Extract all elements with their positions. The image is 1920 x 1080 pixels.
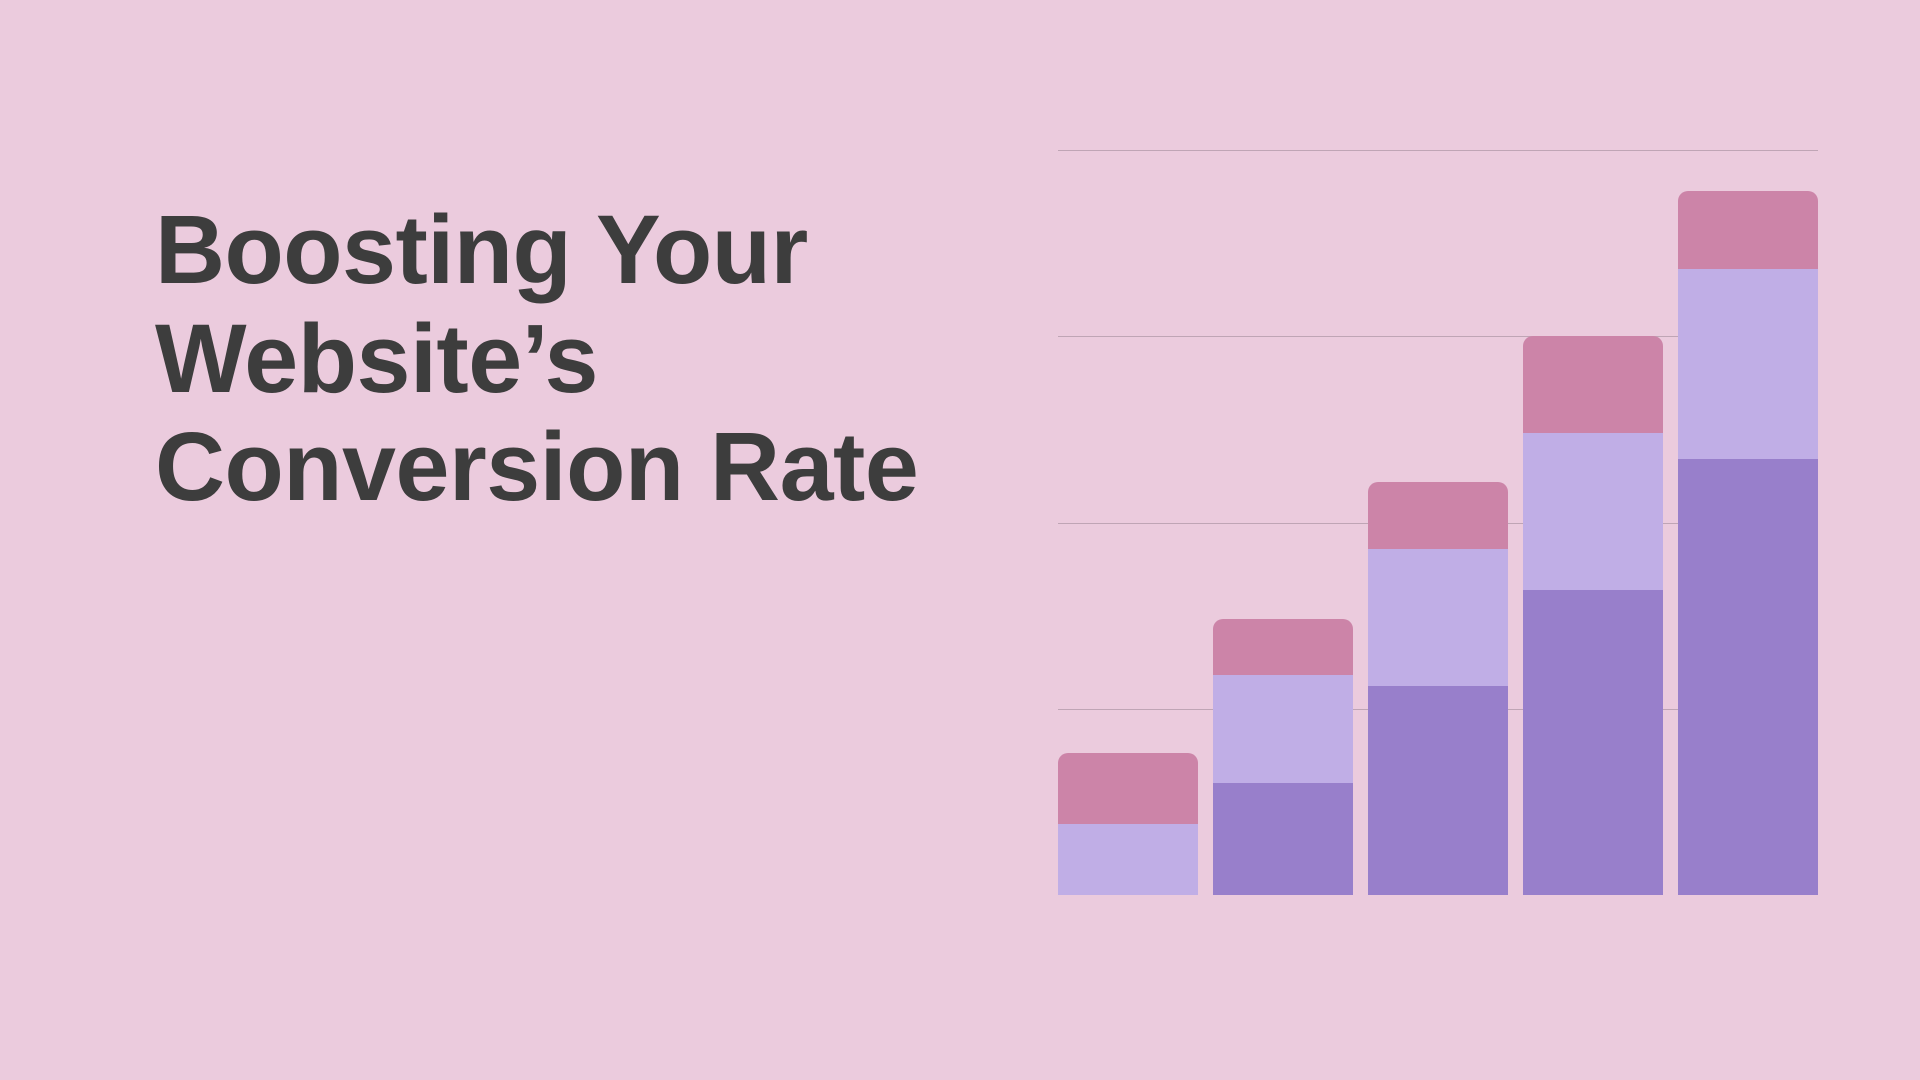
chart-bar-segment <box>1523 590 1663 895</box>
chart-bar-segment <box>1213 619 1353 675</box>
chart-bar-segment <box>1368 549 1508 687</box>
chart-bar-segment <box>1368 686 1508 895</box>
chart-gridline <box>1058 150 1818 151</box>
chart-bar[interactable] <box>1213 619 1353 895</box>
chart-bar-segment <box>1678 269 1818 459</box>
chart-bar[interactable] <box>1368 482 1508 895</box>
headline-block: Boosting Your Website’s Conversion Rate <box>155 196 955 522</box>
chart-bar-segment <box>1523 336 1663 433</box>
chart-bar-segment <box>1058 753 1198 824</box>
chart-plot-area <box>1058 150 1818 895</box>
chart-bar-segment <box>1523 433 1663 589</box>
chart-bar-segment <box>1678 459 1818 895</box>
slide-canvas: Boosting Your Website’s Conversion Rate <box>0 0 1920 1080</box>
chart-bar-segment <box>1678 191 1818 269</box>
chart-bar-segment <box>1213 675 1353 783</box>
chart-bar[interactable] <box>1523 336 1663 895</box>
chart-bar[interactable] <box>1058 753 1198 895</box>
chart-bar-segment <box>1368 482 1508 549</box>
chart-bar-segment <box>1213 783 1353 895</box>
chart-bar[interactable] <box>1678 191 1818 895</box>
page-title: Boosting Your Website’s Conversion Rate <box>155 196 955 522</box>
stacked-bar-chart <box>1058 150 1818 895</box>
chart-bar-segment <box>1058 824 1198 895</box>
